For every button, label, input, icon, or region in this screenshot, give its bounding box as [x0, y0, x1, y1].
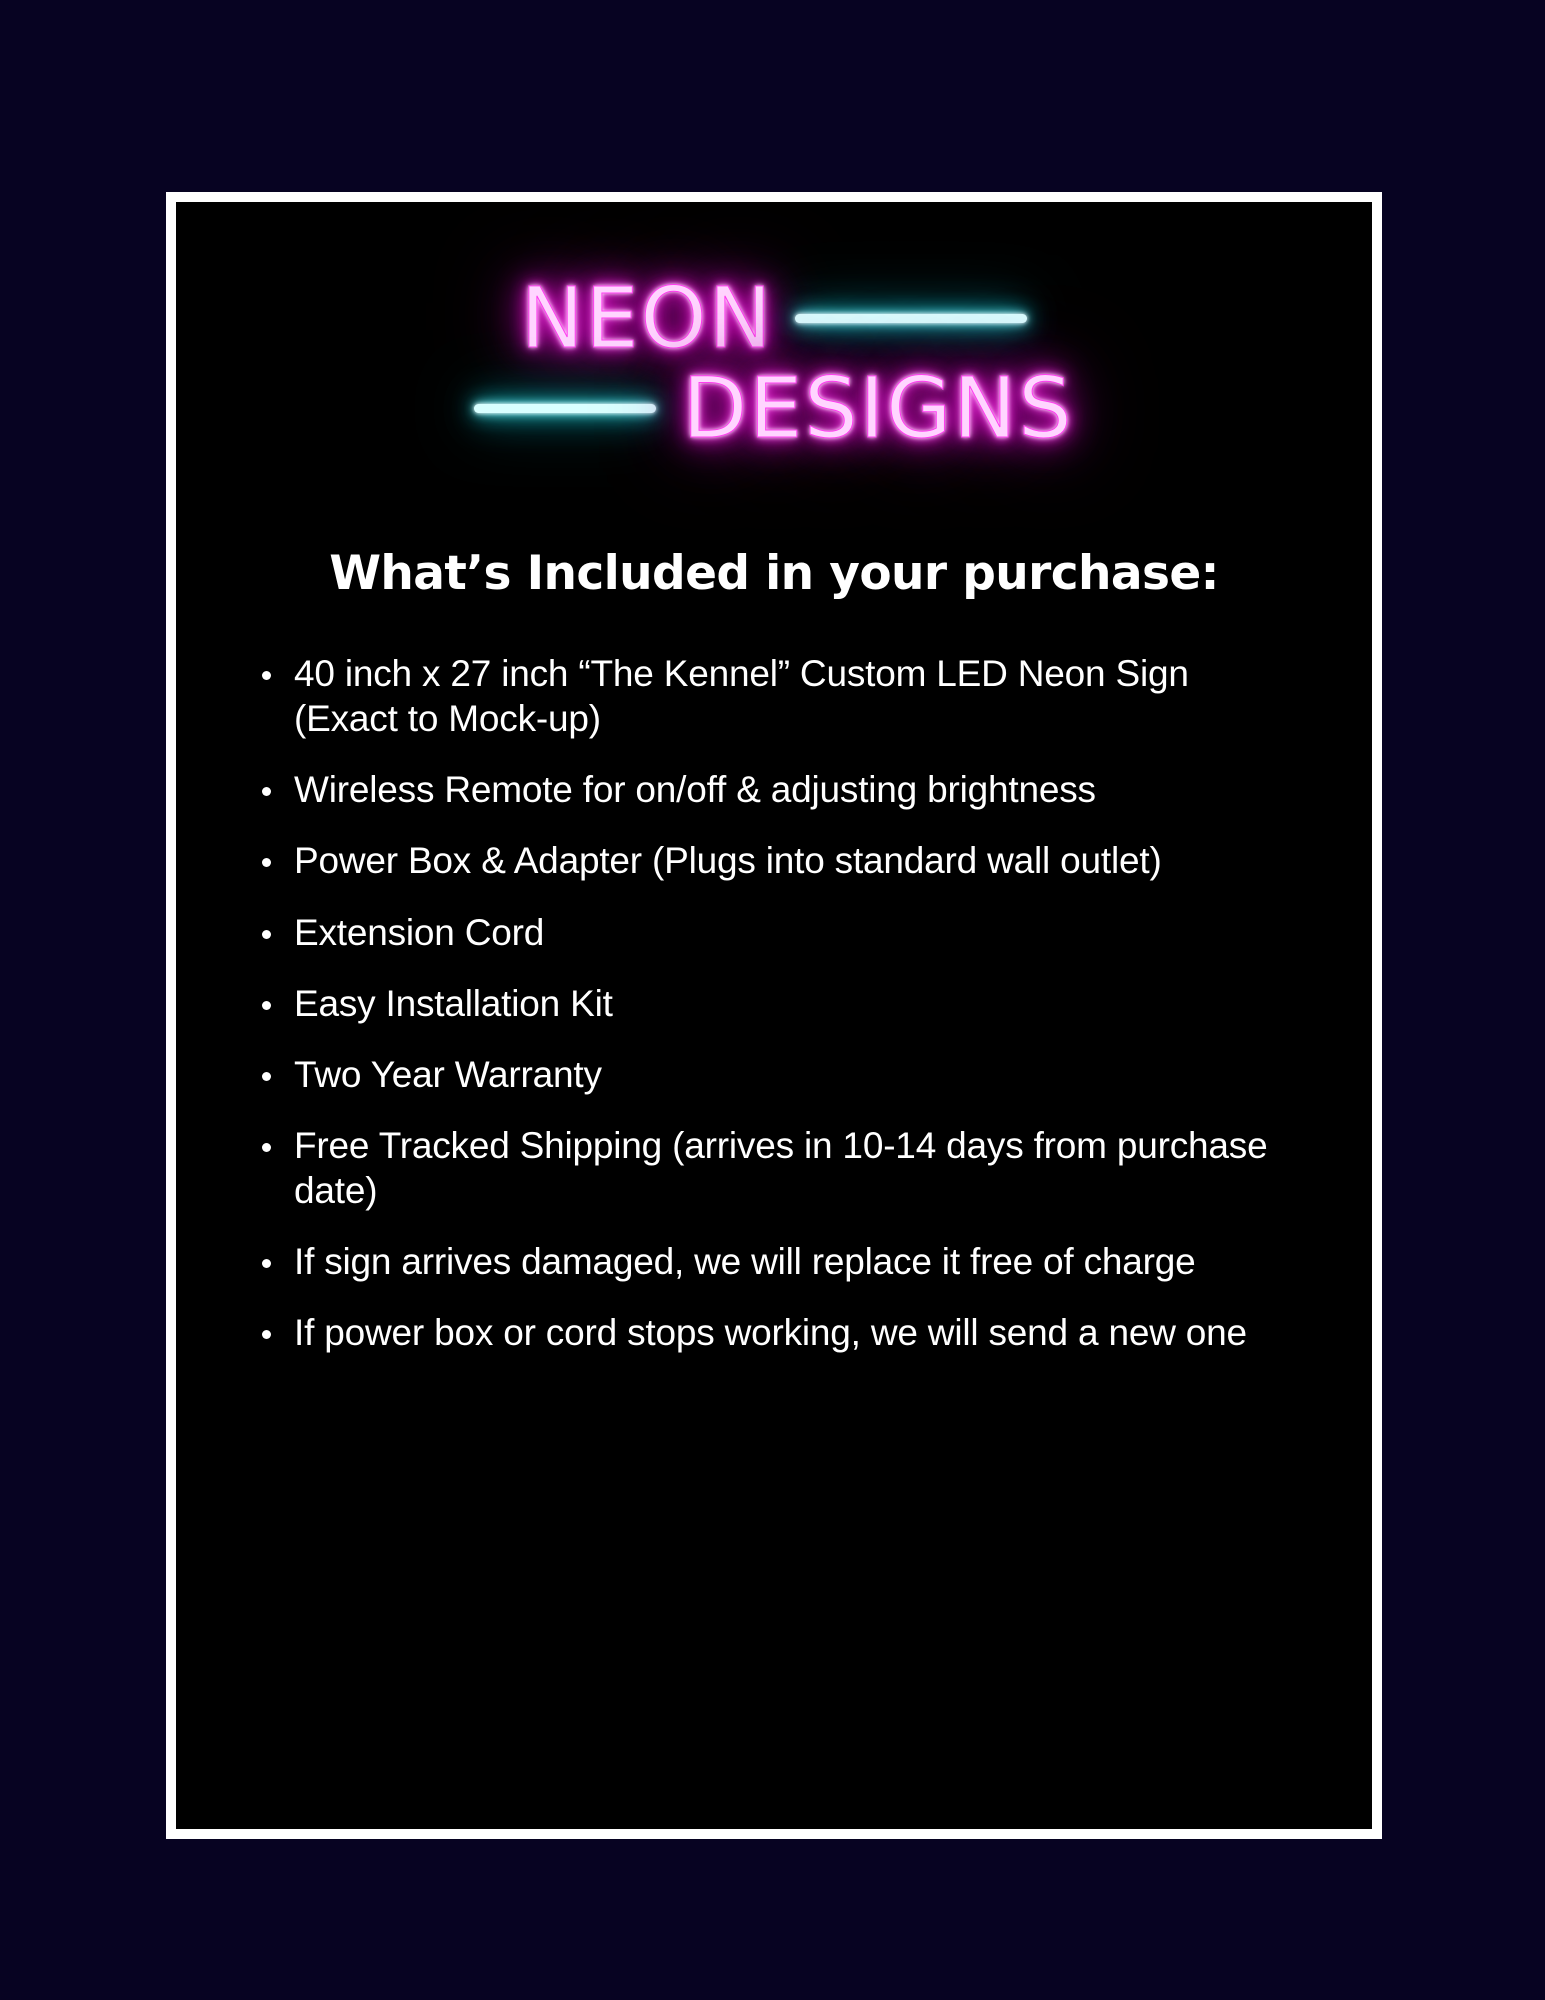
content-card-frame: NEON DESIGNS What’s Included in your pur… — [166, 192, 1382, 1839]
list-item: If power box or cord stops working, we w… — [254, 1310, 1294, 1355]
brand-logo: NEON DESIGNS — [176, 254, 1372, 504]
logo-row-top: NEON — [176, 276, 1372, 360]
page-title: What’s Included in your purchase: — [176, 546, 1372, 601]
list-item: If sign arrives damaged, we will replace… — [254, 1239, 1294, 1284]
list-item: Free Tracked Shipping (arrives in 10-14 … — [254, 1123, 1294, 1213]
list-item: 40 inch x 27 inch “The Kennel” Custom LE… — [254, 651, 1294, 741]
list-item: Wireless Remote for on/off & adjusting b… — [254, 767, 1294, 812]
list-item: Easy Installation Kit — [254, 981, 1294, 1026]
logo-word-designs: DESIGNS — [682, 366, 1073, 450]
list-item: Two Year Warranty — [254, 1052, 1294, 1097]
content-card: NEON DESIGNS What’s Included in your pur… — [176, 202, 1372, 1829]
logo-row-bottom: DESIGNS — [176, 366, 1372, 450]
list-item: Extension Cord — [254, 910, 1294, 955]
page-root: NEON DESIGNS What’s Included in your pur… — [0, 0, 1545, 2000]
list-item: Power Box & Adapter (Plugs into standard… — [254, 838, 1294, 883]
cyan-bar-top-icon — [795, 314, 1027, 323]
logo-word-neon: NEON — [521, 276, 774, 360]
cyan-bar-bottom-icon — [474, 404, 656, 413]
included-items-list: 40 inch x 27 inch “The Kennel” Custom LE… — [176, 651, 1372, 1355]
